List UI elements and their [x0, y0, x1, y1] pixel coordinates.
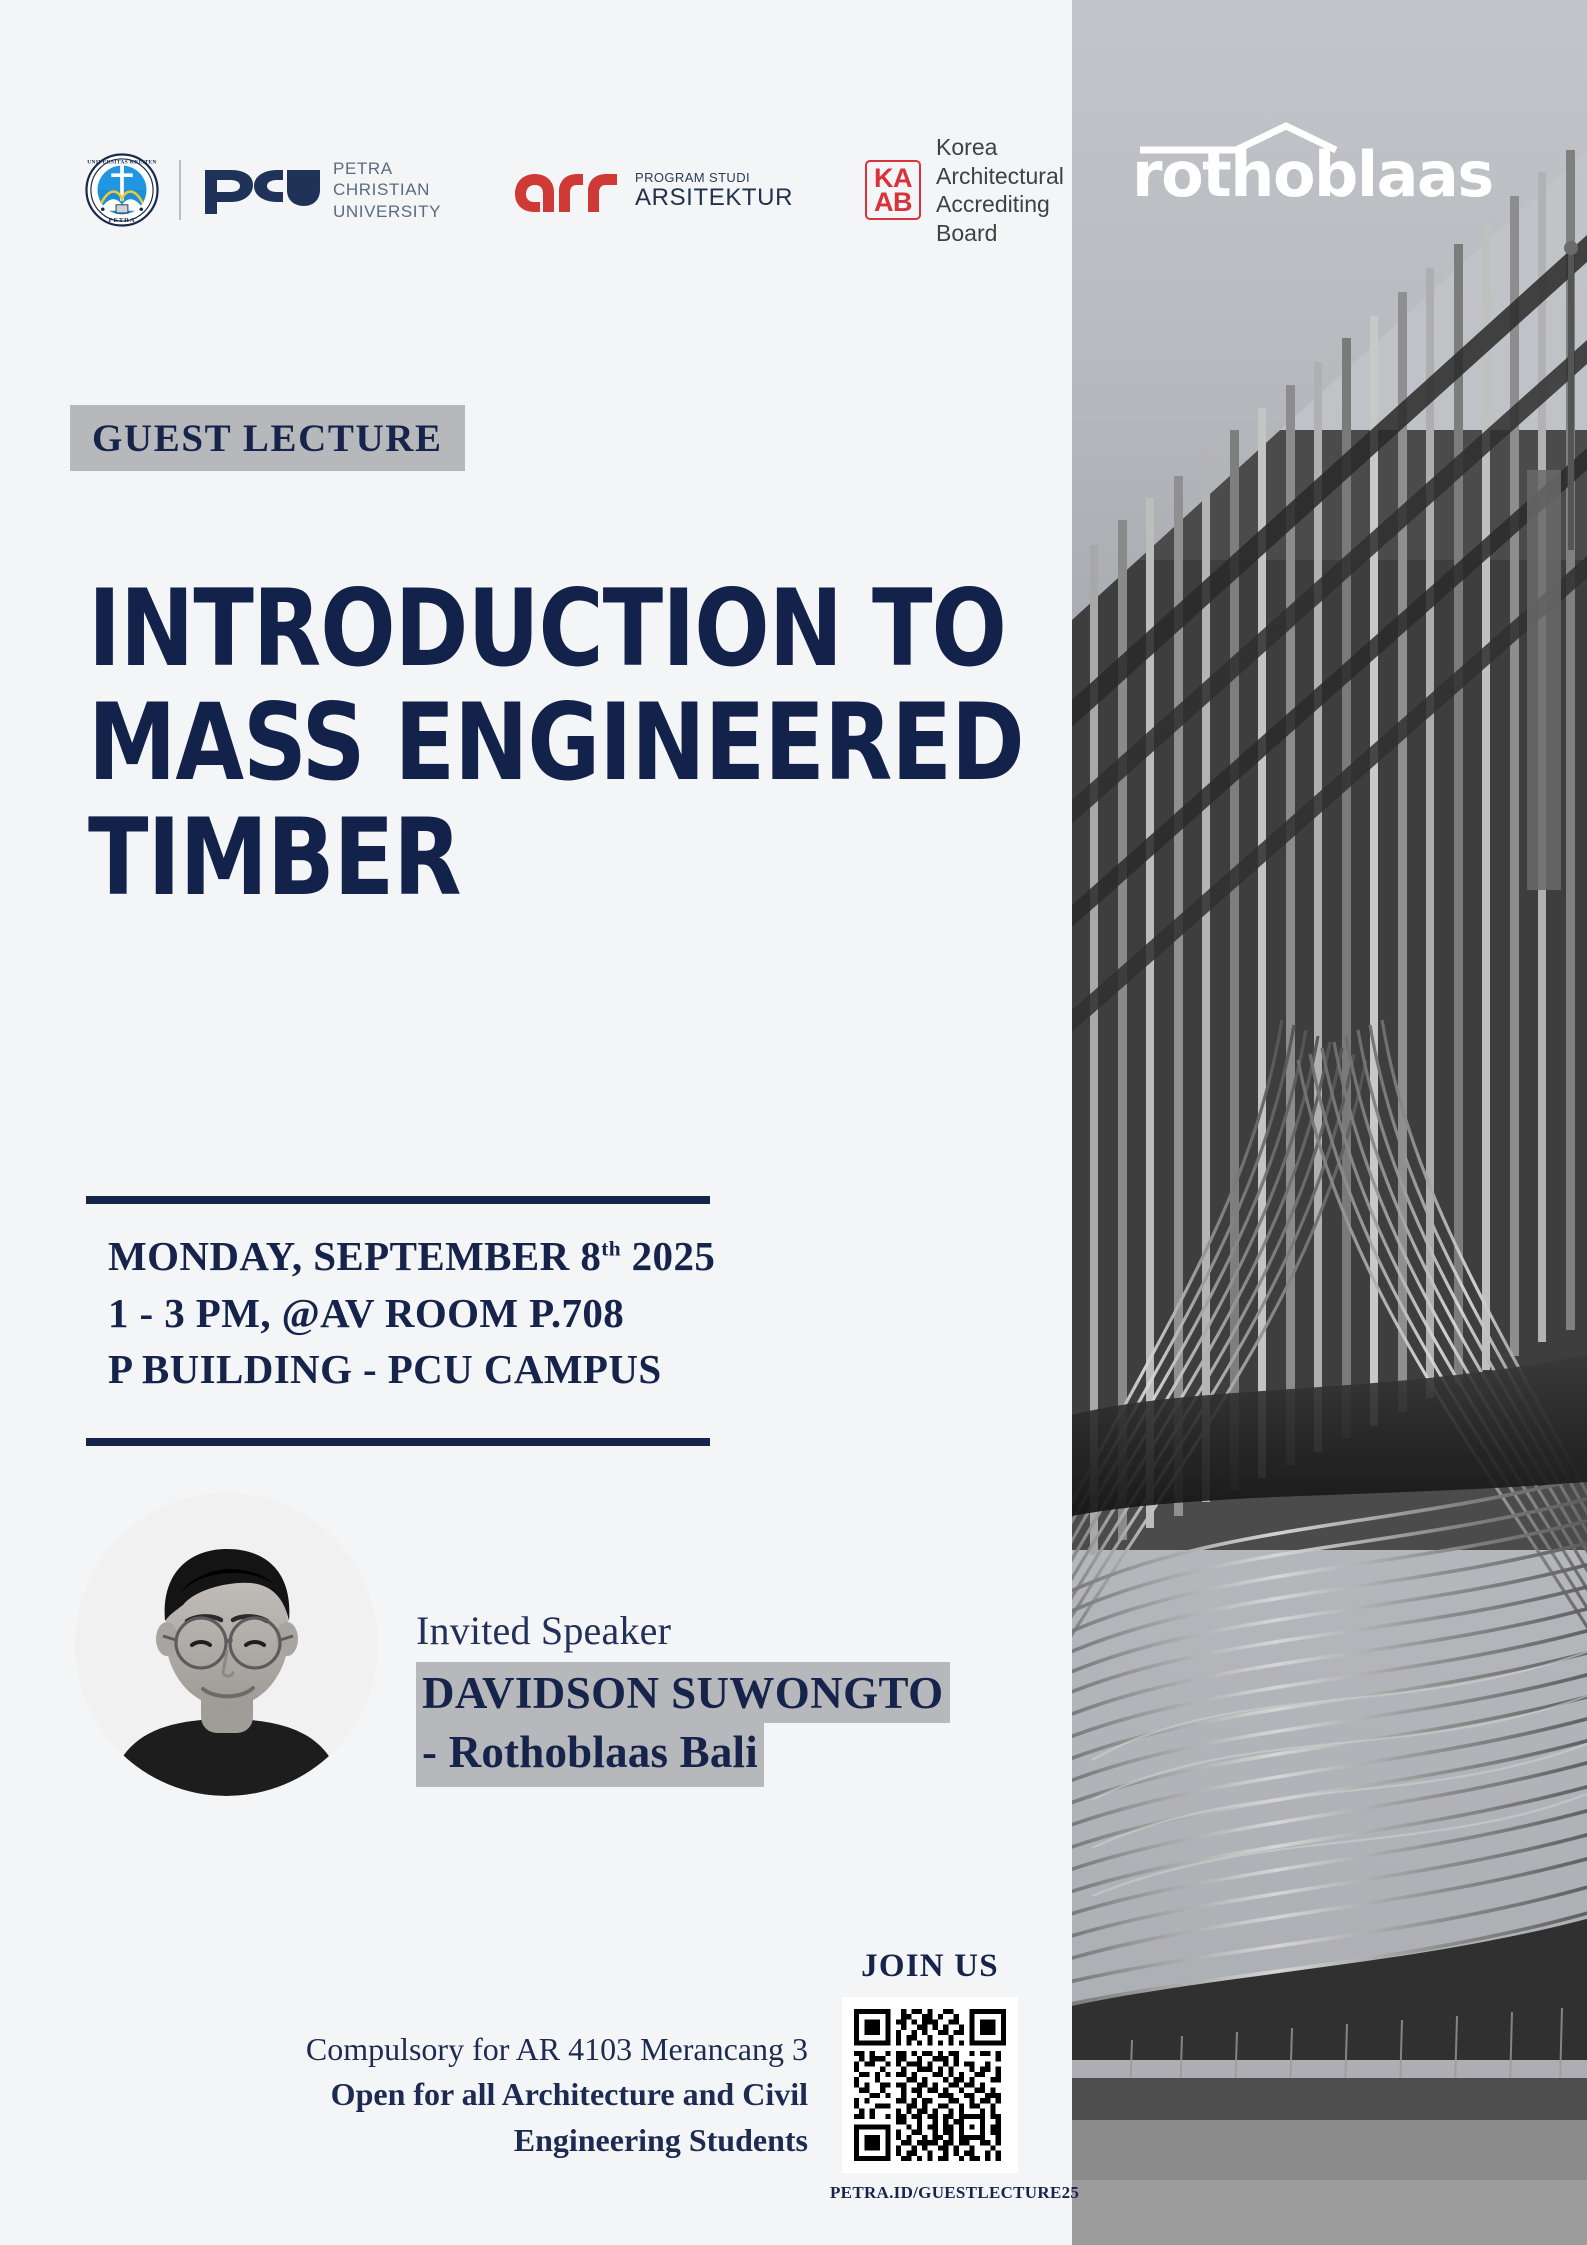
logo-divider — [179, 160, 181, 220]
petra-christian-university-seal: UNIVERSITAS KRISTEN PETRA — [85, 153, 159, 227]
page-title-line2: MASS ENGINEERED — [88, 686, 925, 800]
kaab-mark-line2: AB — [874, 191, 912, 215]
kaab-text-line1: Korea Architectural — [936, 133, 1072, 190]
guest-lecture-badge: GUEST LECTURE — [70, 405, 465, 471]
pcu-name-line1: PETRA — [333, 158, 441, 179]
speaker-portrait-illustration — [75, 1493, 378, 1796]
speaker-label: Invited Speaker — [416, 1607, 950, 1654]
event-venue: P BUILDING - PCU CAMPUS — [108, 1341, 715, 1398]
ars-wordmark — [513, 164, 621, 216]
event-date: MONDAY, SEPTEMBER 8th 2025 — [108, 1228, 715, 1285]
pcu-name-line3: UNIVERSITY — [333, 201, 441, 222]
svg-text:PETRA: PETRA — [109, 217, 136, 224]
audience-note-line1: Compulsory for AR 4103 Merancang 3 — [0, 2027, 808, 2072]
mass-timber-pavilion-photo — [1072, 0, 1587, 2245]
page-title: INTRODUCTION TO MASS ENGINEERED TIMBER — [88, 572, 925, 915]
pcu-wordmark — [201, 164, 321, 216]
divider-bottom — [86, 1438, 710, 1446]
page-title-line3: TIMBER — [88, 801, 925, 915]
poster-root: rothoblaas UNIVERSITAS KRISTEN P — [0, 0, 1587, 2245]
speaker-name: DAVIDSON SUWONGTO — [416, 1662, 950, 1723]
speaker-highlight-lines: DAVIDSON SUWONGTO - Rothoblaas Bali — [416, 1662, 950, 1787]
pcu-logo: UNIVERSITAS KRISTEN PETRA PETRA CHRISTIA… — [85, 153, 441, 227]
qr-code[interactable] — [842, 1997, 1018, 2173]
ars-text-block: PROGRAM STUDI ARSITEKTUR — [635, 170, 793, 211]
divider-top — [86, 1196, 710, 1204]
event-time-location: 1 - 3 PM, @AV ROOM P.708 — [108, 1285, 715, 1342]
ars-program-label: PROGRAM STUDI — [635, 170, 793, 185]
kaab-text-block: Korea Architectural Accrediting Board — [936, 133, 1072, 247]
kaab-mark: KA AB — [865, 160, 921, 221]
audience-note-line2: Open for all Architecture and Civil — [0, 2072, 808, 2117]
left-content-column: UNIVERSITAS KRISTEN PETRA PETRA CHRISTIA… — [0, 0, 1072, 2245]
qr-code-graphic[interactable] — [854, 2009, 1006, 2161]
speaker-block: Invited Speaker DAVIDSON SUWONGTO - Roth… — [416, 1607, 950, 1787]
speaker-portrait — [75, 1493, 378, 1796]
audience-note-line3: Engineering Students — [0, 2118, 808, 2163]
event-details: MONDAY, SEPTEMBER 8th 2025 1 - 3 PM, @AV… — [108, 1228, 715, 1398]
audience-note: Compulsory for AR 4103 Merancang 3 Open … — [0, 2027, 808, 2163]
qr-caption: PETRA.ID/GUESTLECTURE25 — [830, 2183, 1030, 2203]
speaker-organization: - Rothoblaas Bali — [416, 1723, 764, 1786]
svg-text:UNIVERSITAS KRISTEN: UNIVERSITAS KRISTEN — [87, 159, 156, 165]
photo-illustration — [1072, 0, 1587, 2245]
ars-logo: PROGRAM STUDI ARSITEKTUR — [513, 164, 793, 216]
ars-program-name: ARSITEKTUR — [635, 185, 793, 211]
pcu-name-text: PETRA CHRISTIAN UNIVERSITY — [333, 158, 441, 222]
join-us-title: JOIN US — [830, 1948, 1030, 1985]
page-title-line1: INTRODUCTION TO — [88, 572, 925, 686]
event-date-prefix: MONDAY, SEPTEMBER 8 — [108, 1233, 601, 1279]
kaab-text-line2: Accrediting Board — [936, 190, 1072, 247]
partner-logo-row: UNIVERSITAS KRISTEN PETRA PETRA CHRISTIA… — [85, 133, 1072, 247]
event-date-year: 2025 — [632, 1233, 716, 1279]
join-us-block: JOIN US — [830, 1948, 1030, 2203]
kaab-logo: KA AB Korea Architectural Accrediting Bo… — [865, 133, 1072, 247]
event-date-ordinal: th — [601, 1236, 621, 1260]
pcu-name-line2: CHRISTIAN — [333, 179, 441, 200]
